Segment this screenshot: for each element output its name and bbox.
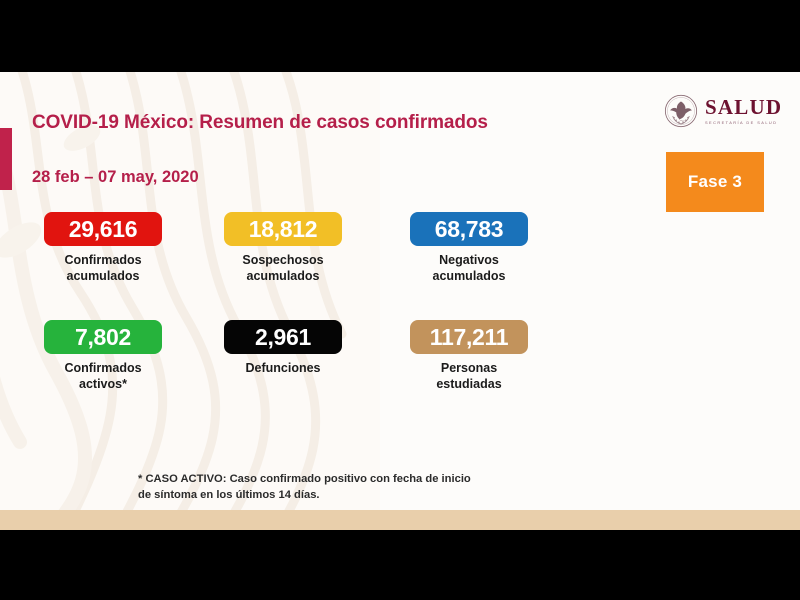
stat-sospechosos-acumulados: 18,812 Sospechosos acumulados <box>190 212 376 284</box>
stat-pill: 68,783 <box>410 212 528 246</box>
stat-label: Confirmados activos* <box>64 360 141 392</box>
letterbox-top-bar <box>0 0 800 72</box>
stat-label: Personas estudiadas <box>436 360 501 392</box>
stat-value: 18,812 <box>249 216 318 243</box>
logo-salud-text: SALUD <box>705 97 782 118</box>
logo-wordmark: SALUD SECRETARÍA DE SALUD <box>705 97 782 125</box>
stat-value: 68,783 <box>435 216 504 243</box>
stats-row-1: 29,616 Confirmados acumulados 18,812 Sos… <box>0 212 560 320</box>
date-range-label: 28 feb – 07 may, 2020 <box>32 168 199 187</box>
footnote-text: * CASO ACTIVO: Caso confirmado positivo … <box>138 471 471 503</box>
stat-pill: 29,616 <box>44 212 162 246</box>
stat-negativos-acumulados: 68,783 Negativos acumulados <box>376 212 562 284</box>
stat-value: 29,616 <box>69 216 138 243</box>
letterbox-bottom-bar <box>0 530 800 600</box>
stat-personas-estudiadas: 117,211 Personas estudiadas <box>376 320 562 392</box>
left-accent-bar <box>0 128 12 190</box>
slide-bottom-strip <box>0 510 800 530</box>
stat-pill: 18,812 <box>224 212 342 246</box>
logo-subtitle-text: SECRETARÍA DE SALUD <box>705 121 782 125</box>
stat-confirmados-acumulados: 29,616 Confirmados acumulados <box>10 212 196 284</box>
stat-label: Negativos acumulados <box>433 252 506 284</box>
stat-label: Confirmados acumulados <box>64 252 141 284</box>
salud-logo: SALUD SECRETARÍA DE SALUD <box>664 94 782 128</box>
mexican-eagle-emblem-icon <box>664 94 698 128</box>
phase-badge: Fase 3 <box>666 152 764 212</box>
stats-grid: 29,616 Confirmados acumulados 18,812 Sos… <box>0 212 560 428</box>
page-title: COVID-19 México: Resumen de casos confir… <box>32 112 488 134</box>
stat-value: 117,211 <box>430 324 509 351</box>
screenshot-root: COVID-19 México: Resumen de casos confir… <box>0 0 800 600</box>
stat-label: Defunciones <box>245 360 320 376</box>
presentation-slide: COVID-19 México: Resumen de casos confir… <box>0 72 800 530</box>
stat-value: 7,802 <box>75 324 131 351</box>
stat-defunciones: 2,961 Defunciones <box>190 320 376 376</box>
stat-value: 2,961 <box>255 324 311 351</box>
stat-pill: 2,961 <box>224 320 342 354</box>
stats-row-2: 7,802 Confirmados activos* 2,961 Defunci… <box>0 320 560 428</box>
stat-confirmados-activos: 7,802 Confirmados activos* <box>10 320 196 392</box>
stat-pill: 7,802 <box>44 320 162 354</box>
stat-pill: 117,211 <box>410 320 528 354</box>
stat-label: Sospechosos acumulados <box>242 252 323 284</box>
phase-badge-label: Fase 3 <box>688 172 742 192</box>
